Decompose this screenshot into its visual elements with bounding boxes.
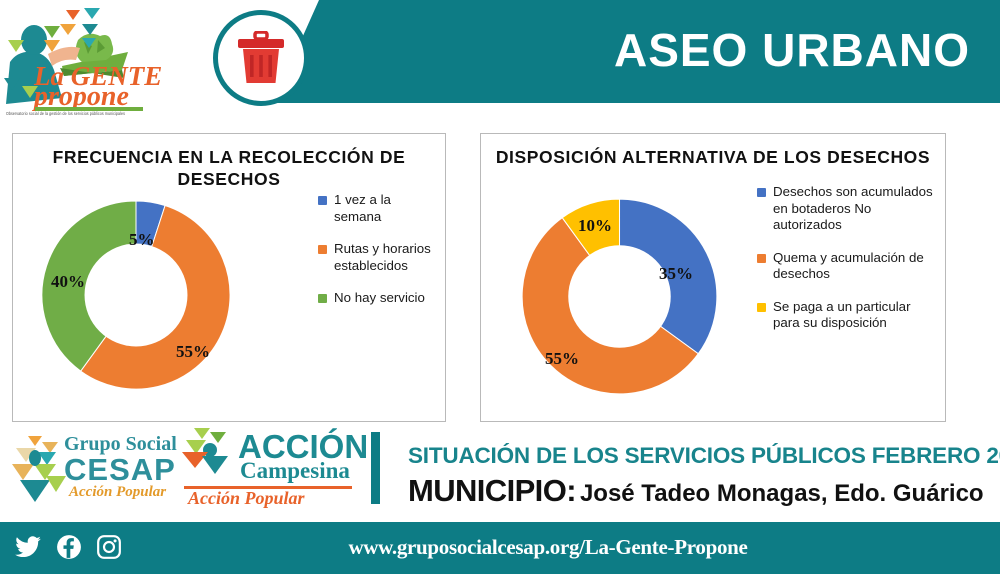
survey-caption: SITUACIÓN DE LOS SERVICIOS PÚBLICOS FEBR… [408, 443, 1000, 469]
twitter-icon[interactable] [14, 533, 42, 561]
legend-swatch-orange [757, 254, 766, 263]
page-title: ASEO URBANO [614, 20, 970, 80]
donut-svg-frecuencia [37, 196, 235, 394]
chart-title-frecuencia: FRECUENCIA EN LA RECOLECCIÓN DE DESECHOS [13, 146, 445, 190]
municipality-label: MUNICIPIO: [408, 473, 576, 509]
donut-chart-disposicion: 35% 55% 10% [517, 194, 722, 399]
campesina-line-2: Campesina [240, 458, 350, 484]
legend-item-botaderos[interactable]: Desechos son acumulados en botaderos No … [757, 184, 937, 234]
campesina-line-3: Acción Popular [188, 488, 305, 509]
municipality-row: MUNICIPIO: José Tadeo Monagas, Edo. Guár… [408, 473, 984, 509]
legend-swatch-green [318, 294, 327, 303]
infographic-canvas: ASEO URBANO [0, 0, 1000, 574]
cesap-mark [12, 432, 68, 508]
logo-tagline: Observatorio social de la gestión de los… [6, 111, 152, 116]
legend-label-particular: Se paga a un particular para su disposic… [773, 299, 911, 331]
legend-label-quema: Quema y acumulación de desechos [773, 250, 924, 282]
accion-campesina-mark [180, 428, 238, 486]
legend-label-1-vez: 1 vez a la semana [334, 192, 391, 224]
chart-title-disposicion: DISPOSICIÓN ALTERNATIVA DE LOS DESECHOS [481, 146, 945, 168]
website-url[interactable]: www.gruposocialcesap.org/La-Gente-Propon… [48, 535, 1000, 560]
cesap-line-2: CESAP [64, 452, 176, 488]
chart-panel-disposicion: DISPOSICIÓN ALTERNATIVA DE LOS DESECHOS … [480, 133, 946, 422]
legend-label-rutas: Rutas y horarios establecidos [334, 241, 431, 273]
legend-swatch-blue [757, 188, 766, 197]
footer-bar: www.gruposocialcesap.org/La-Gente-Propon… [0, 522, 1000, 574]
legend-item-no-hay-servicio[interactable]: No hay servicio [318, 290, 440, 307]
chart-panel-frecuencia: FRECUENCIA EN LA RECOLECCIÓN DE DESECHOS… [12, 133, 446, 422]
accion-campesina-logo: ACCIÓN Campesina Acción Popular [180, 428, 355, 512]
cesap-line-3: Acción Popular [69, 484, 166, 501]
legend-item-rutas[interactable]: Rutas y horarios establecidos [318, 241, 440, 274]
donut-svg-disposicion [517, 194, 722, 399]
chart-legend-disposicion: Desechos son acumulados en botaderos No … [757, 184, 937, 348]
legend-swatch-blue [318, 196, 327, 205]
vertical-divider [371, 432, 380, 504]
donut-chart-frecuencia: 5% 55% 40% [37, 196, 235, 394]
legend-item-quema[interactable]: Quema y acumulación de desechos [757, 250, 937, 283]
municipality-value: José Tadeo Monagas, Edo. Guárico [580, 480, 984, 508]
trash-can-icon [235, 31, 287, 85]
trash-can-badge [213, 10, 309, 106]
legend-swatch-orange [318, 245, 327, 254]
legend-item-1-vez[interactable]: 1 vez a la semana [318, 192, 440, 225]
legend-label-no-hay-servicio: No hay servicio [334, 290, 425, 305]
grupo-social-cesap-logo: Grupo Social CESAP Acción Popular [12, 432, 172, 510]
legend-label-botaderos: Desechos son acumulados en botaderos No … [773, 184, 933, 232]
legend-item-particular[interactable]: Se paga a un particular para su disposic… [757, 299, 937, 332]
chart-legend-frecuencia: 1 vez a la semana Rutas y horarios estab… [318, 192, 440, 323]
legend-swatch-yellow [757, 303, 766, 312]
la-gente-propone-logo: La GENTE propone Observatorio social de … [4, 6, 154, 114]
